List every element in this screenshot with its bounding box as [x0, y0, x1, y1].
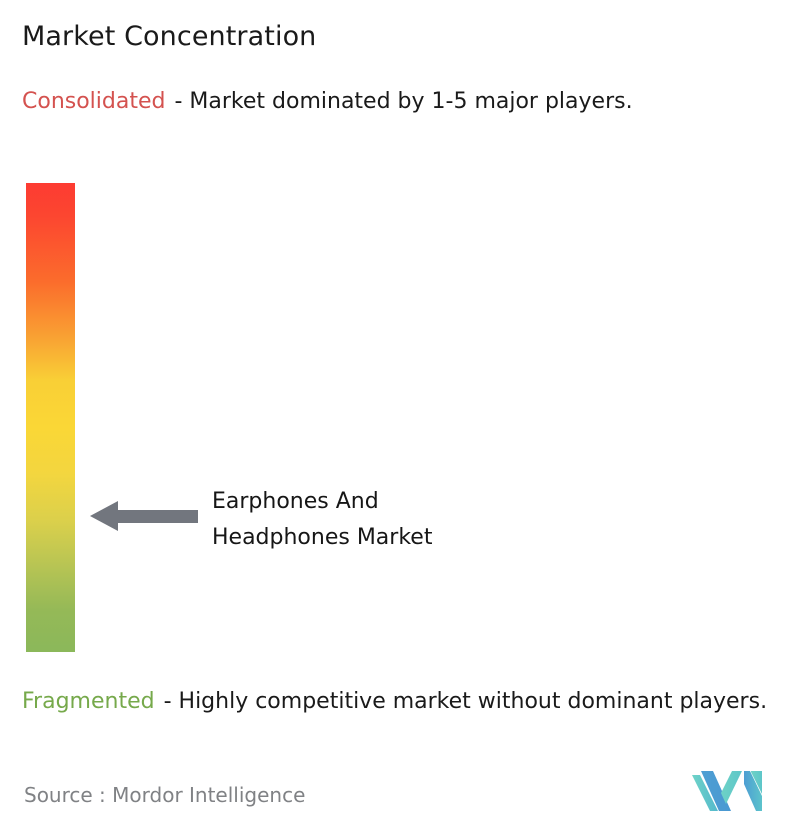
source-attribution: Source : Mordor Intelligence	[24, 782, 305, 808]
legend-fragmented-description: - Highly competitive market without domi…	[164, 689, 767, 714]
legend-fragmented-keyword: Fragmented	[22, 689, 155, 714]
concentration-scale-bar	[26, 183, 75, 652]
left-arrow-icon	[90, 501, 198, 531]
brand-logo	[692, 768, 762, 812]
market-pointer-arrow	[90, 500, 198, 532]
market-concentration-infographic: Market Concentration Consolidated- Marke…	[0, 0, 796, 834]
legend-consolidated-description: - Market dominated by 1-5 major players.	[174, 89, 632, 114]
logo-m-right-stroke	[721, 771, 742, 804]
legend-consolidated-keyword: Consolidated	[22, 89, 165, 114]
market-pointer-label: Earphones And Headphones Market	[212, 484, 432, 556]
legend-fragmented: Fragmented- Highly competitive market wi…	[22, 686, 784, 718]
page-title: Market Concentration	[22, 20, 316, 54]
legend-consolidated: Consolidated- Market dominated by 1-5 ma…	[22, 86, 764, 118]
